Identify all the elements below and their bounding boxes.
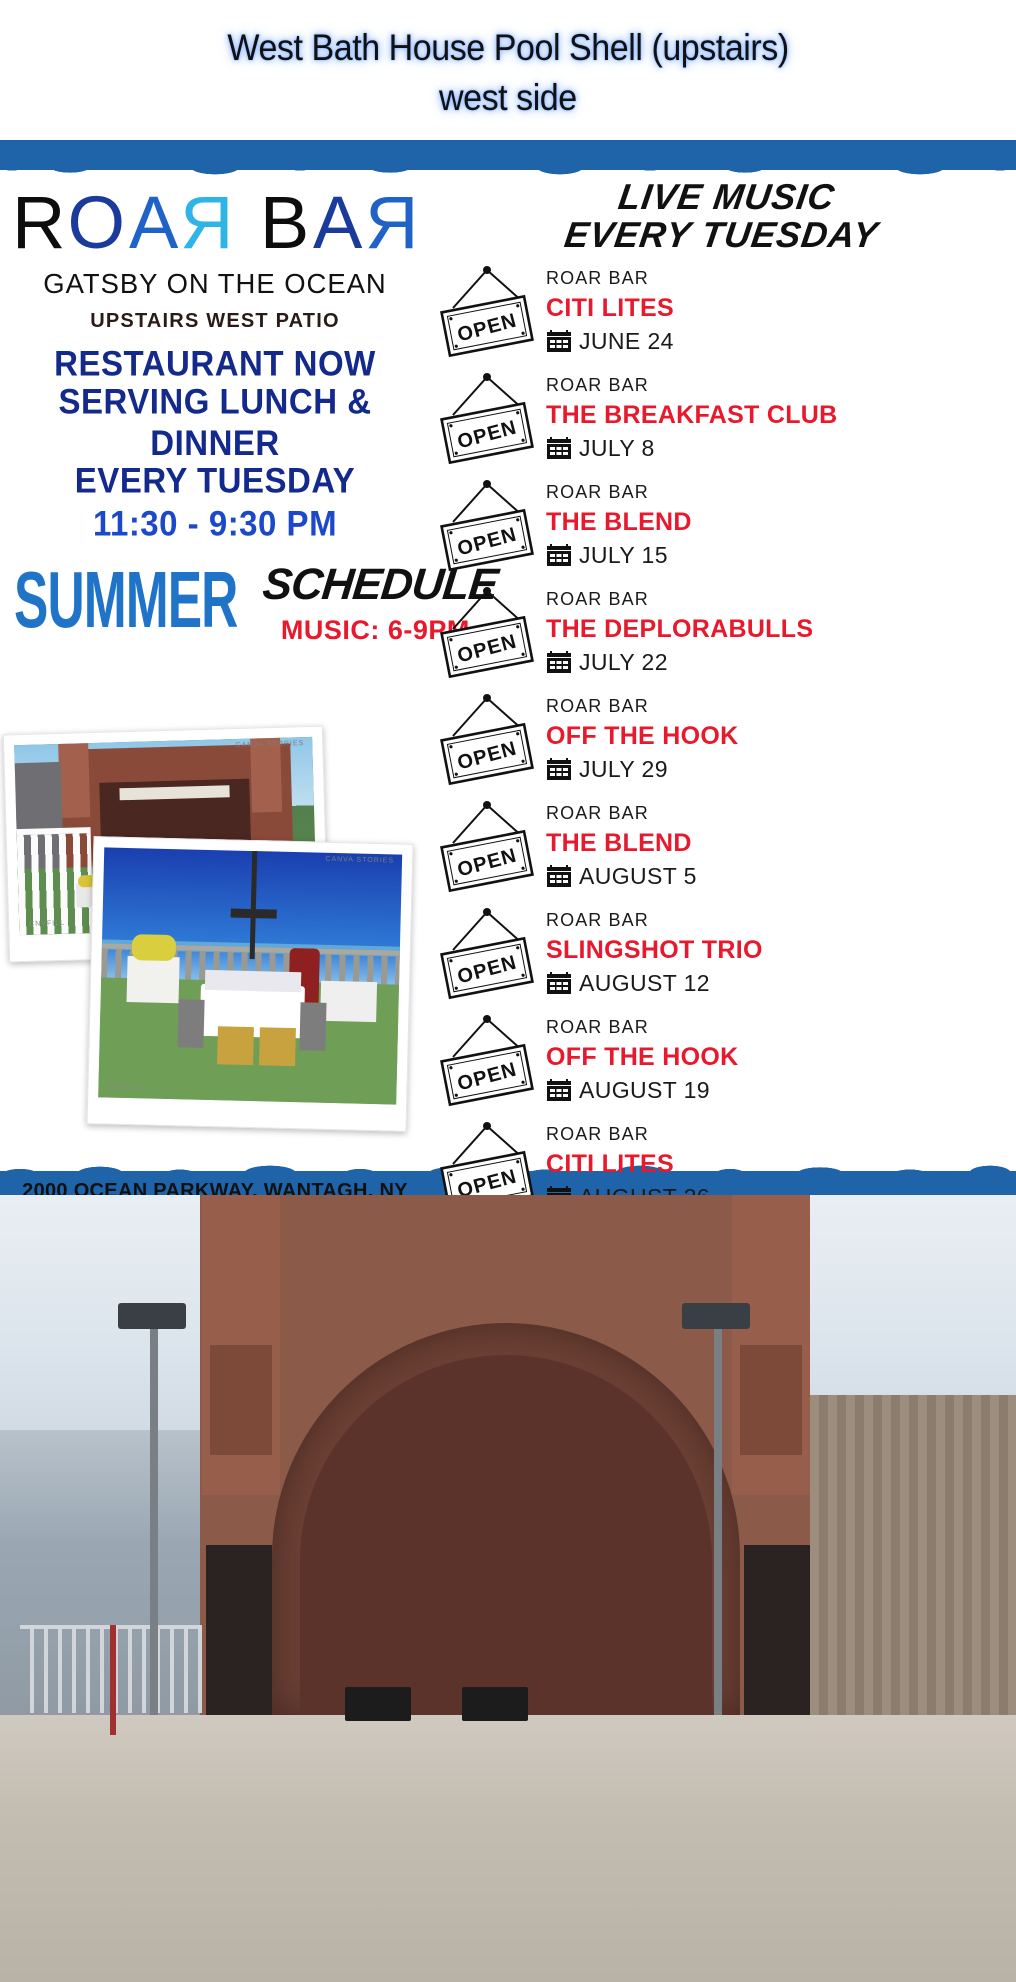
flyer-right-column: LIVE MUSIC EVERY TUESDAY OPEN ROAR BAR C… <box>432 170 1016 1195</box>
event-venue: ROAR BAR <box>546 268 1016 289</box>
contact-address: 2000 OCEAN PARKWAY, WANTAGH, NY <box>0 1180 430 1195</box>
logo-letter-r3: R <box>363 186 418 260</box>
event-band: SLINGSHOT TRIO <box>546 936 1016 965</box>
shell-door-right <box>744 1545 810 1715</box>
event-row: OPEN ROAR BAR CITI LITES JUNE 24 <box>432 258 1016 365</box>
promo-line-1: RESTAURANT NOW <box>0 344 430 385</box>
logo-tagline: GATSBY ON THE OCEAN <box>4 268 425 300</box>
page-title-line-2: west side <box>439 73 577 123</box>
live-music-line-2: EVERY TUESDAY <box>427 216 1016 254</box>
event-band: CITI LITES <box>546 294 1016 323</box>
event-details: ROAR BAR CITI LITES JUNE 24 <box>542 268 1016 355</box>
calendar-icon <box>546 1079 572 1103</box>
calendar-icon <box>546 1186 572 1195</box>
open-sign-icon: OPEN <box>435 371 539 467</box>
open-sign-icon: OPEN <box>435 1013 539 1109</box>
promo-hours: 11:30 - 9:30 PM <box>0 504 430 545</box>
mic-stand-left <box>110 1625 116 1735</box>
contact-block: 2000 OCEAN PARKWAY, WANTAGH, NY gatsbyon… <box>0 1180 430 1195</box>
calendar-icon <box>546 972 572 996</box>
open-sign: OPEN <box>432 799 542 895</box>
event-venue: ROAR BAR <box>546 696 1016 717</box>
event-band: THE BREAKFAST CLUB <box>546 401 1016 430</box>
event-details: ROAR BAR SLINGSHOT TRIO AUGUST 12 <box>542 910 1016 997</box>
event-row: OPEN ROAR BAR SLINGSHOT TRIO AUGUST 12 <box>432 900 1016 1007</box>
page-header: West Bath House Pool Shell (upstairs) we… <box>0 0 1016 140</box>
calendar-icon <box>546 651 572 675</box>
logo-subtagline: UPSTAIRS WEST PATIO <box>0 310 430 333</box>
event-date-row: JULY 22 <box>546 649 1016 676</box>
event-band: THE BLEND <box>546 508 1016 537</box>
open-sign-icon: OPEN <box>435 1120 539 1195</box>
light-pole-left <box>150 1315 158 1715</box>
event-date: JULY 29 <box>579 756 668 783</box>
event-details: ROAR BAR THE BLEND AUGUST 5 <box>542 803 1016 890</box>
calendar-icon <box>546 437 572 461</box>
torn-edge-top <box>0 140 1016 170</box>
calendar-icon <box>546 330 572 354</box>
event-band: THE BLEND <box>546 829 1016 858</box>
event-date-row: JUNE 24 <box>546 328 1016 355</box>
event-date-row: JULY 15 <box>546 542 1016 569</box>
event-date: JULY 8 <box>579 435 655 462</box>
open-sign-icon: OPEN <box>435 906 539 1002</box>
event-details: ROAR BAR CITI LITES AUGUST 26 <box>542 1124 1016 1195</box>
event-venue: ROAR BAR <box>546 1017 1016 1038</box>
right-wood-wall <box>810 1395 1016 1715</box>
flyer-poster: ROARBAR GATSBY ON THE OCEAN UPSTAIRS WES… <box>0 140 1016 1195</box>
open-sign-icon: OPEN <box>435 692 539 788</box>
event-date-row: AUGUST 26 <box>546 1184 1016 1195</box>
photo-2-watermark-top: CANVA STORIES <box>325 856 394 865</box>
event-row: OPEN ROAR BAR THE BLEND AUGUST 5 <box>432 793 1016 900</box>
event-band: OFF THE HOOK <box>546 1043 1016 1072</box>
page-title-line-1: West Bath House Pool Shell (upstairs) <box>227 23 788 73</box>
event-venue: ROAR BAR <box>546 910 1016 931</box>
logo-letter-o1: O <box>67 186 127 260</box>
event-venue: ROAR BAR <box>546 1124 1016 1145</box>
event-date-row: AUGUST 19 <box>546 1077 1016 1104</box>
event-row: OPEN ROAR BAR THE BLEND JULY 15 <box>432 472 1016 579</box>
band-shell-photo <box>0 1195 1016 1982</box>
light-head-left <box>118 1303 186 1329</box>
event-row: OPEN ROAR BAR THE BREAKFAST CLUB JULY 8 <box>432 365 1016 472</box>
logo-letter-a2: A <box>311 186 362 260</box>
stage-ground <box>0 1715 1016 1982</box>
event-band: OFF THE HOOK <box>546 722 1016 751</box>
photo-1-watermark-top: CANVA STORIES <box>235 740 304 749</box>
event-venue: ROAR BAR <box>546 589 1016 610</box>
event-details: ROAR BAR THE BLEND JULY 15 <box>542 482 1016 569</box>
event-venue: ROAR BAR <box>546 482 1016 503</box>
open-sign: OPEN <box>432 692 542 788</box>
event-details: ROAR BAR OFF THE HOOK JULY 29 <box>542 696 1016 783</box>
light-pole-right <box>714 1315 722 1715</box>
stage-speaker-left <box>345 1687 411 1721</box>
open-sign-icon: OPEN <box>435 585 539 681</box>
event-venue: ROAR BAR <box>546 803 1016 824</box>
open-sign-icon: OPEN <box>435 799 539 895</box>
logo-letter-r1: R <box>12 186 67 260</box>
calendar-icon <box>546 758 572 782</box>
event-date: JUNE 24 <box>579 328 674 355</box>
calendar-icon <box>546 544 572 568</box>
logo-letter-b: B <box>260 186 311 260</box>
event-row: OPEN ROAR BAR CITI LITES AUGUST 26 <box>432 1114 1016 1195</box>
open-sign-icon: OPEN <box>435 264 539 360</box>
live-music-heading: LIVE MUSIC EVERY TUESDAY <box>427 178 1016 254</box>
stage-speaker-right <box>462 1687 528 1721</box>
events-list: OPEN ROAR BAR CITI LITES JUNE 24 <box>432 258 1016 1195</box>
shell-door-left <box>206 1545 272 1715</box>
flyer-left-column: ROARBAR GATSBY ON THE OCEAN UPSTAIRS WES… <box>0 170 430 646</box>
logo-letter-r2: R <box>178 186 233 260</box>
event-date: AUGUST 5 <box>579 863 697 890</box>
event-date-row: AUGUST 5 <box>546 863 1016 890</box>
event-details: ROAR BAR THE DEPLORABULLS JULY 22 <box>542 589 1016 676</box>
event-venue: ROAR BAR <box>546 375 1016 396</box>
light-head-right <box>682 1303 750 1329</box>
open-sign: OPEN <box>432 585 542 681</box>
logo-wordmark: ROARBAR <box>12 186 418 260</box>
live-music-line-1: LIVE MUSIC <box>432 178 1016 216</box>
patio-photo-2: CANVA STORIES CNVFILL <box>87 836 414 1132</box>
event-band: THE DEPLORABULLS <box>546 615 1016 644</box>
event-row: OPEN ROAR BAR OFF THE HOOK AUGUST 19 <box>432 1007 1016 1114</box>
photo-1-watermark-bottom: CNVFILL <box>29 920 65 928</box>
open-sign: OPEN <box>432 1013 542 1109</box>
roar-bar-logo: ROARBAR <box>0 186 430 260</box>
event-date: JULY 22 <box>579 649 668 676</box>
open-sign-icon: OPEN <box>435 478 539 574</box>
promo-line-3: EVERY TUESDAY <box>0 461 430 502</box>
open-sign: OPEN <box>432 264 542 360</box>
event-band: CITI LITES <box>546 1150 1016 1179</box>
event-row: OPEN ROAR BAR THE DEPLORABULLS JULY 22 <box>432 579 1016 686</box>
promo-line-2: SERVING LUNCH & DINNER <box>0 382 430 465</box>
event-date: AUGUST 19 <box>579 1077 710 1104</box>
summer-word: SUMMER <box>14 566 237 633</box>
event-date: AUGUST 12 <box>579 970 710 997</box>
open-sign: OPEN <box>432 906 542 1002</box>
event-date-row: AUGUST 12 <box>546 970 1016 997</box>
logo-letter-a1: A <box>127 186 178 260</box>
event-row: OPEN ROAR BAR OFF THE HOOK JULY 29 <box>432 686 1016 793</box>
event-date-row: JULY 8 <box>546 435 1016 462</box>
event-date: JULY 15 <box>579 542 668 569</box>
event-details: ROAR BAR THE BREAKFAST CLUB JULY 8 <box>542 375 1016 462</box>
patio-photo-2-image: CANVA STORIES CNVFILL <box>98 847 402 1104</box>
open-sign: OPEN <box>432 1120 542 1195</box>
photo-2-watermark-bottom: CNVFILL <box>108 1084 144 1092</box>
calendar-icon <box>546 865 572 889</box>
event-date-row: JULY 29 <box>546 756 1016 783</box>
event-date: AUGUST 26 <box>579 1184 710 1195</box>
schedule-heading: SUMMER SCHEDULE MUSIC: 6-9PM <box>0 566 430 647</box>
open-sign: OPEN <box>432 371 542 467</box>
shell-tower-right <box>732 1195 810 1495</box>
shell-tower-left <box>202 1195 280 1495</box>
promo-block: RESTAURANT NOW SERVING LUNCH & DINNER EV… <box>0 345 430 544</box>
open-sign: OPEN <box>432 478 542 574</box>
event-details: ROAR BAR OFF THE HOOK AUGUST 19 <box>542 1017 1016 1104</box>
